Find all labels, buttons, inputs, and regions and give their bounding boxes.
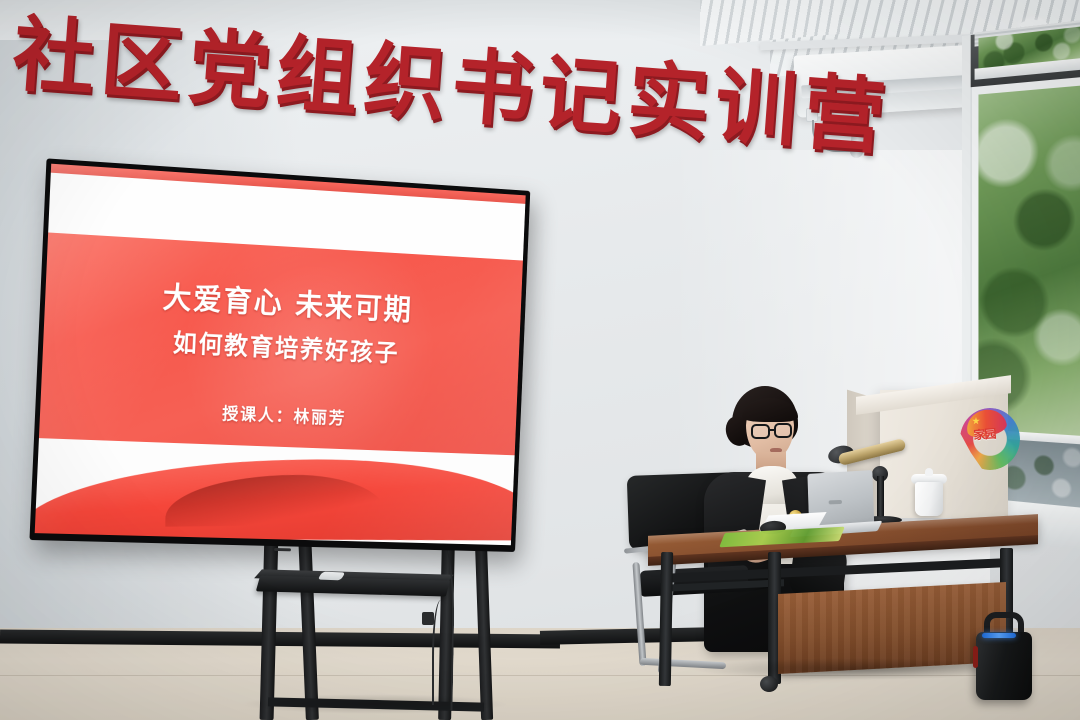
desk-leg [659,552,673,686]
desk-floor-shadow [690,658,1020,680]
glasses-right-lens-icon [774,423,792,438]
laptop-brand-logo-icon [829,500,842,504]
banner-char: 社 [10,14,98,102]
banner-char: 实 [624,59,712,147]
power-cable-lower [432,600,454,705]
portable-bluetooth-speaker[interactable] [976,632,1032,700]
emblem-characters: 家园 [973,427,1009,457]
lecture-room-photo: 社 区 党 组 织 书 记 实 训 营 大爱育心 未来可期 如何教育培养好孩子 … [0,0,1080,720]
speaker-side-accent [973,646,978,668]
slide-presenter: 授课人：林丽芳 [40,392,517,435]
microphone-stand-pole [877,476,884,520]
banner-char: 织 [361,40,449,128]
banner-char: 训 [712,66,800,154]
glasses-left-lens-icon [751,424,770,439]
ceramic-mug[interactable] [915,482,943,516]
speaker-led-indicator-icon [982,633,1016,638]
banner-char: 书 [449,46,537,134]
tv-brand-logo-icon [274,548,291,551]
banner-char: 营 [800,72,888,160]
podium-emblem-icon: 家园 [960,408,1020,470]
glasses-bridge-icon [769,429,776,431]
banner-char: 记 [537,53,625,141]
wall-outlet[interactable] [422,612,434,625]
presentation-display[interactable]: 大爱育心 未来可期 如何教育培养好孩子 授课人：林丽芳 [29,158,530,552]
mug-lid-knob [925,468,933,476]
slide-red-band: 大爱育心 未来可期 如何教育培养好孩子 授课人：林丽芳 [39,232,523,455]
banner-char: 组 [273,33,361,121]
tv-stand-shadow [240,694,510,714]
banner-char: 党 [186,27,274,115]
banner-char: 区 [98,20,186,108]
slide-screen: 大爱育心 未来可期 如何教育培养好孩子 授课人：林丽芳 [35,164,526,546]
